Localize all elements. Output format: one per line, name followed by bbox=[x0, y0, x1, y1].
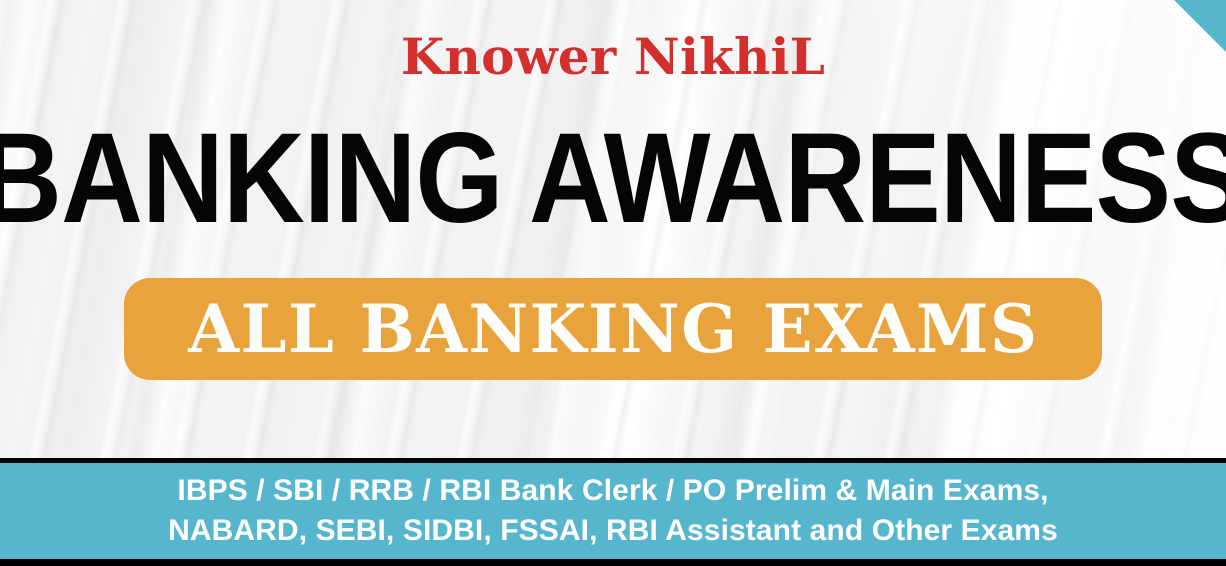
exam-list-line-1: IBPS / SBI / RRB / RBI Bank Clerk / PO P… bbox=[177, 472, 1048, 510]
all-banking-exams-badge-label: ALL BANKING EXAMS bbox=[188, 296, 1038, 362]
page-title: BANKING AWARENESS bbox=[0, 120, 1226, 238]
exam-list-band: IBPS / SBI / RRB / RBI Bank Clerk / PO P… bbox=[0, 458, 1226, 566]
exam-list-line-2: NABARD, SEBI, SIDBI, FSSAI, RBI Assistan… bbox=[168, 512, 1058, 550]
all-banking-exams-badge: ALL BANKING EXAMS bbox=[124, 278, 1102, 380]
banking-awareness-banner: Knower NikhiL BANKING AWARENESS ALL BANK… bbox=[0, 0, 1226, 566]
brand-title: Knower NikhiL bbox=[401, 32, 825, 82]
